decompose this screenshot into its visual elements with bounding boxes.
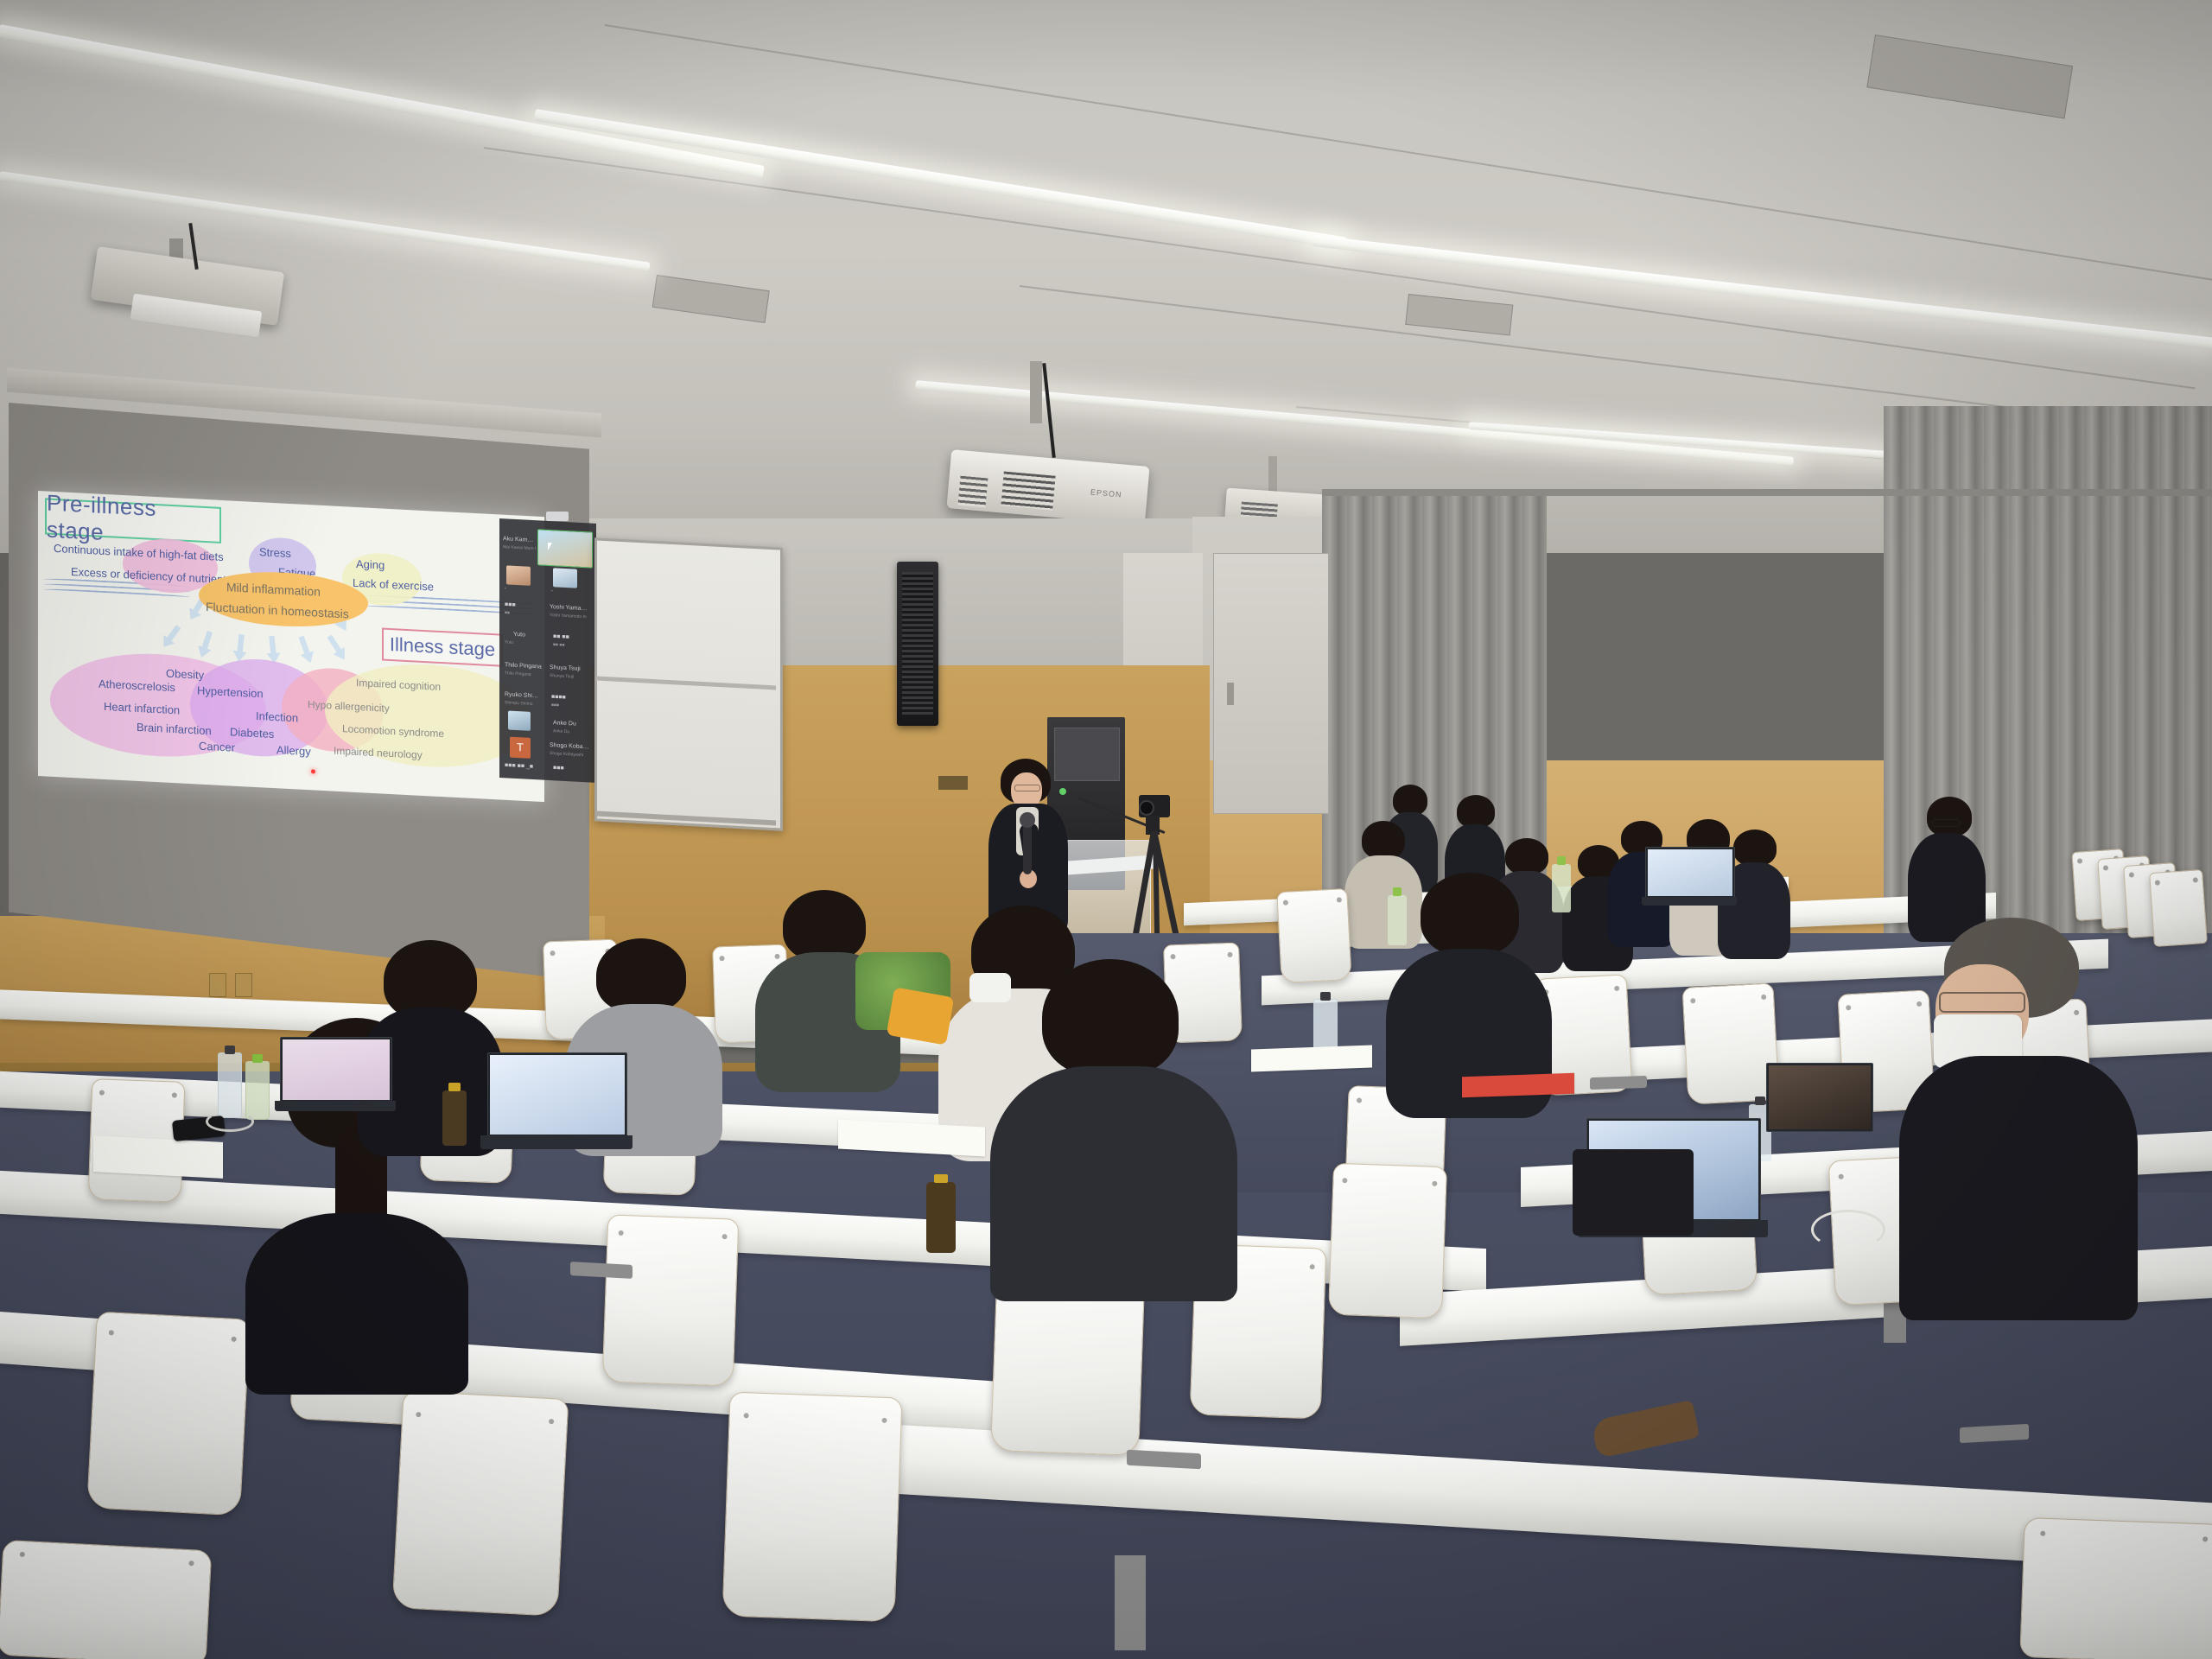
stacked-chair[interactable] <box>2149 869 2208 947</box>
curtain-rail <box>1322 489 2212 496</box>
laptop-lid <box>487 1052 627 1137</box>
cable <box>206 1111 254 1132</box>
bottle-cap <box>1320 992 1331 1001</box>
laptop-screen <box>490 1055 625 1135</box>
notebook-page[interactable] <box>1251 1046 1372 1072</box>
zoom-participant-gallery[interactable]: Aku Kame Mu... Mai Kawai Mum In • • ■■■ … <box>499 518 596 783</box>
gallery-tile-sub: Shunya Tsuji <box>550 673 589 680</box>
gallery-tile-name: ■■■■ <box>551 694 589 702</box>
mouse-cursor-icon <box>548 543 556 550</box>
laptop-lid <box>280 1037 392 1103</box>
laptop-base[interactable] <box>480 1135 632 1149</box>
chair[interactable] <box>392 1390 569 1617</box>
microphone-head-icon <box>1020 812 1035 828</box>
door-handle[interactable] <box>1227 683 1234 705</box>
bottle-cap <box>252 1054 263 1063</box>
camera-lens-icon <box>1139 800 1154 816</box>
tablet-lid <box>1766 1063 1873 1132</box>
gallery-tile-thumb[interactable] <box>506 565 531 585</box>
arrow-out-3 <box>232 633 248 663</box>
ceiling-projector-mount <box>1030 361 1042 423</box>
outcome-cancer: Cancer <box>199 740 235 754</box>
laptop[interactable] <box>275 1037 396 1118</box>
gallery-tile-name: ■■■ <box>553 765 591 772</box>
chair[interactable] <box>1328 1163 1447 1319</box>
gallery-tile-sub: • <box>505 586 534 593</box>
arrow-out-1 <box>158 622 184 652</box>
outcome-allergy: Allergy <box>276 743 311 758</box>
gallery-tile-name: Yuto <box>513 632 544 639</box>
gallery-tile-name: ■■■ ■■ _■ <box>505 762 543 770</box>
wall-speaker-grille <box>902 572 933 715</box>
stress-label: Stress <box>259 545 291 560</box>
gallery-tile-name: Anke Du <box>553 720 588 728</box>
tea-bottle[interactable] <box>1388 895 1407 945</box>
gallery-tile-name: Aku Kame Mu... <box>503 536 536 543</box>
gallery-tile-sub: Shimpu Shimo <box>505 700 543 707</box>
gallery-tile-sub: ■■■ <box>551 702 589 709</box>
arrow-out-6 <box>323 632 350 664</box>
person-torso <box>990 1066 1237 1301</box>
person-hair <box>1733 829 1777 866</box>
gallery-tile-sub: Yoshi Yamamoto In <box>550 613 589 620</box>
person-glasses-icon <box>1932 819 1960 827</box>
backpack[interactable] <box>1573 1149 1694 1236</box>
laptop-screen <box>1648 849 1732 896</box>
outcome-diabetes: Diabetes <box>230 725 274 741</box>
water-bottle[interactable] <box>218 1052 242 1118</box>
laptop[interactable] <box>1642 847 1737 911</box>
person-hair <box>1457 795 1495 828</box>
bouquet-wrap <box>887 987 955 1045</box>
chair[interactable] <box>602 1214 740 1386</box>
gallery-tile-sub: Mai Kawai Mum In <box>503 544 536 551</box>
person-hair <box>783 890 866 961</box>
gallery-active-speaker-tile[interactable] <box>537 529 593 568</box>
pre-illness-stage-badge: Pre-illness stage <box>45 498 221 543</box>
projected-slide: Pre-illness stage Continuous intake of h… <box>38 491 544 802</box>
laptop[interactable] <box>480 1052 632 1156</box>
wall-outlet[interactable] <box>235 973 252 997</box>
gallery-tile-name: Shogo Kobayashi <box>550 742 591 750</box>
gallery-tile-name: ■■■ <box>505 601 539 609</box>
gallery-tile-sub: ■■ ■■ <box>553 642 591 649</box>
wall-outlet[interactable] <box>209 973 226 997</box>
person-hair <box>1362 821 1405 859</box>
person-torso <box>245 1213 468 1395</box>
bottle-cap <box>225 1046 235 1054</box>
gallery-tile-sub: Anke Du <box>553 728 588 735</box>
chair[interactable] <box>1276 888 1351 983</box>
wall-sign <box>938 776 968 790</box>
gallery-tile-name: Yoshi Yamamot... <box>550 604 589 612</box>
handout[interactable] <box>1462 1073 1574 1098</box>
gallery-tile-sub: Thilo Pingana <box>505 671 543 677</box>
gallery-tile-name: Shuya Tsuji <box>550 664 589 672</box>
person-hair <box>1393 785 1427 816</box>
audience-member-masked <box>1892 918 2143 1324</box>
slide-canvas: Pre-illness stage Continuous intake of h… <box>38 491 544 802</box>
laptop-lid <box>1645 847 1735 899</box>
projector-vent-grille <box>1001 471 1055 510</box>
laser-pointer-dot <box>311 769 315 773</box>
gallery-tile-avatar-initial[interactable]: T <box>510 737 531 759</box>
tablet[interactable] <box>1763 1063 1875 1142</box>
gallery-tile-thumb[interactable] <box>553 568 577 588</box>
laptop-base[interactable] <box>275 1101 396 1111</box>
chair[interactable] <box>2019 1517 2212 1659</box>
gallery-tile-name: Thilo Pingana <box>505 662 543 670</box>
tablet-screen <box>1769 1065 1871 1129</box>
tea-bottle[interactable] <box>245 1061 270 1120</box>
bottle-cap <box>1393 887 1402 896</box>
gallery-tile-sub: Yuto <box>505 639 539 646</box>
person-torso <box>1899 1056 2138 1320</box>
desk-leg <box>1115 1555 1146 1650</box>
bottle-cap <box>1557 856 1567 865</box>
person-hair <box>1042 959 1179 1077</box>
outcome-infection: Infection <box>256 709 298 725</box>
tea-bottle[interactable] <box>1552 864 1571 912</box>
illness-stage-badge: Illness stage <box>382 627 503 666</box>
projector-vent-grille <box>958 476 988 508</box>
gallery-tile-sub: • <box>551 588 581 595</box>
person-hair <box>596 938 686 1013</box>
cable <box>1811 1210 1885 1249</box>
aging-label: Aging <box>356 557 385 572</box>
chair[interactable] <box>0 1540 212 1659</box>
bottle-cap <box>934 1174 948 1183</box>
handheld-microphone[interactable] <box>1023 821 1032 874</box>
tea-bottle[interactable] <box>926 1182 956 1253</box>
desk-cable-grommet <box>1590 1076 1647 1090</box>
arrow-out-5 <box>295 634 317 664</box>
lecture-hall-photo: EPSON Pre-illness stag <box>0 0 2212 1659</box>
person-glasses-icon <box>1939 992 2025 1013</box>
gallery-tile-sub: ■■ <box>505 610 539 617</box>
person-hair <box>1927 797 1972 836</box>
chair[interactable] <box>722 1392 903 1623</box>
gallery-tile-thumb[interactable] <box>508 711 531 731</box>
projected-taskbar-chip[interactable] <box>546 512 569 521</box>
gallery-tile-name: ■■ ■■ <box>553 633 591 641</box>
laptop-base[interactable] <box>1642 897 1737 906</box>
illness-stage-label: Illness stage <box>390 633 495 661</box>
notebook-page[interactable] <box>93 1135 223 1179</box>
arrow-out-2 <box>194 629 216 660</box>
person-hair <box>1505 838 1548 874</box>
bottle-cap <box>448 1083 460 1091</box>
gallery-tile-name: Ryuko Shimo... <box>505 691 543 699</box>
audience-member <box>985 959 1244 1305</box>
presenter-glasses-icon <box>1014 785 1040 791</box>
person-hair <box>1421 873 1519 956</box>
tea-bottle[interactable] <box>442 1090 467 1146</box>
gallery-tile-sub: Shogo Kobayashi <box>550 751 591 758</box>
outcome-obesity: Obesity <box>166 667 204 682</box>
laptop-screen <box>283 1039 390 1100</box>
